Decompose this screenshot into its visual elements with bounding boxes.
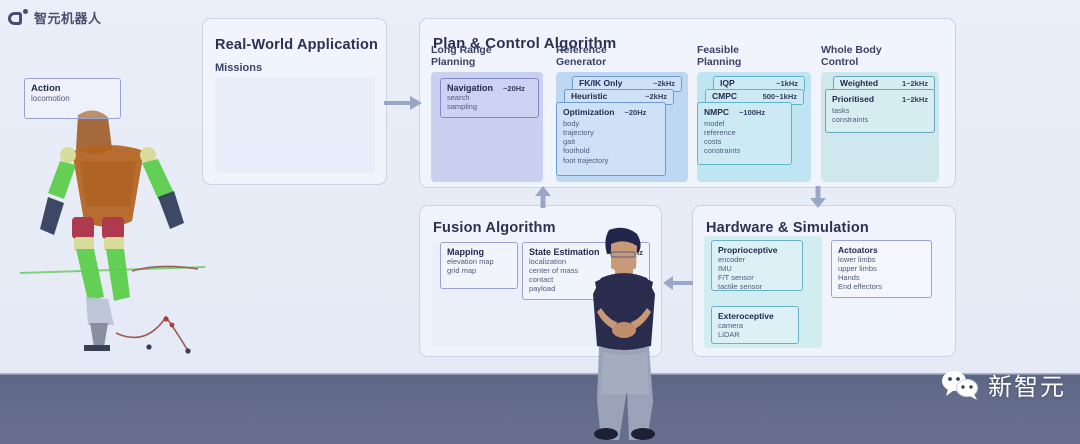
- humanoid-robot-visualization: [20, 85, 210, 355]
- card-optimization-name: Optimization: [563, 107, 614, 117]
- stage-floor: [0, 374, 1080, 444]
- card-prioritised-item-0: tasks: [832, 106, 928, 115]
- card-prioritised-item-1: constraints: [832, 115, 928, 124]
- missions-group: [215, 77, 375, 173]
- card-mapping-item-1: grid map: [447, 266, 511, 275]
- card-exteroceptive-name: Exteroceptive: [718, 311, 774, 321]
- card-fk-ik-hz: ~2kHz: [653, 79, 675, 88]
- stage-floor-edge: [0, 373, 1080, 375]
- card-optimization-hz: ~20Hz: [624, 108, 646, 117]
- card-actuators-name: Actoators: [838, 245, 878, 255]
- card-exteroceptive-item-1: LiDAR: [718, 330, 792, 339]
- card-nmpc-item-0: model: [704, 119, 785, 128]
- card-optimization[interactable]: Optimization ~20Hz body trajectory gait …: [556, 102, 666, 176]
- presentation-stage: 智元机器人 Real-World Applicati: [0, 0, 1080, 444]
- card-cmpc-name: CMPC: [712, 91, 737, 101]
- card-cmpc-hz: 500~1kHz: [763, 92, 797, 101]
- card-optimization-item-2: gait: [563, 137, 659, 146]
- card-action-name: Action: [31, 83, 61, 94]
- card-optimization-item-4: foot trajectory: [563, 156, 659, 165]
- card-prioritised[interactable]: Prioritised 1~2kHz tasks constraints: [825, 89, 935, 133]
- panel-title-hardware: Hardware & Simulation: [706, 220, 869, 236]
- card-actuators-item-0: lower limbs: [838, 255, 925, 264]
- card-iqp-hz: ~1kHz: [776, 79, 798, 88]
- wbc-title-line2: Control: [821, 57, 882, 69]
- subtitle-missions: Missions: [215, 62, 262, 74]
- card-exteroceptive-item-0: camera: [718, 321, 792, 330]
- card-mapping-name: Mapping: [447, 247, 484, 257]
- card-exteroceptive[interactable]: Exteroceptive camera LiDAR: [711, 306, 799, 344]
- card-action[interactable]: Action locomotion: [24, 78, 121, 119]
- card-fk-ik-name: FK/IK Only: [579, 78, 622, 88]
- card-prioritised-name: Prioritised: [832, 94, 874, 104]
- lrp-title-line1: Long Range: [431, 45, 492, 57]
- column-title-whole-body-control: Whole Body Control: [821, 45, 882, 69]
- card-navigation-name: Navigation: [447, 83, 493, 93]
- card-proprioceptive-item-0: encoder: [718, 255, 796, 264]
- card-nmpc-name: NMPC: [704, 107, 729, 117]
- arrow-realworld-to-plan: [384, 94, 424, 112]
- card-proprioceptive-name: Proprioceptive: [718, 245, 778, 255]
- card-mapping-item-0: elevation map: [447, 257, 511, 266]
- card-optimization-item-3: foothold: [563, 146, 659, 155]
- card-actuators-item-2: Hands: [838, 273, 925, 282]
- card-actuators-item-3: End effectors: [838, 282, 925, 291]
- card-proprioceptive-item-2: F/T sensor: [718, 273, 796, 282]
- card-optimization-item-1: trajectory: [563, 128, 659, 137]
- card-nmpc-item-1: reference: [704, 128, 785, 137]
- ref-title-line2: Generator: [556, 57, 607, 69]
- ref-title-line1: Reference: [556, 45, 607, 57]
- column-title-feasible-planning: Feasible Planning: [697, 45, 741, 69]
- card-actuators[interactable]: Actoators lower limbs upper limbs Hands …: [831, 240, 932, 298]
- card-nmpc-hz: ~100Hz: [739, 108, 765, 117]
- brand-logo: 智元机器人: [8, 8, 102, 27]
- agibot-logo-icon: [8, 9, 28, 27]
- lrp-title-line2: Planning: [431, 57, 492, 69]
- card-mapping[interactable]: Mapping elevation map grid map: [440, 242, 518, 289]
- card-nmpc[interactable]: NMPC ~100Hz model reference costs constr…: [697, 102, 792, 165]
- card-proprioceptive-item-3: tactile sensor: [718, 282, 796, 291]
- channel-watermark: 新智元: [940, 367, 1066, 402]
- arrow-plan-to-hardware: [809, 186, 827, 208]
- panel-title-real-world: Real-World Application: [215, 37, 378, 53]
- panel-real-world-application[interactable]: Real-World Application Missions: [202, 18, 387, 185]
- panel-title-fusion: Fusion Algorithm: [433, 220, 556, 236]
- brand-logo-text: 智元机器人: [34, 8, 102, 27]
- card-heuristic-name: Heuristic: [571, 91, 607, 101]
- card-action-item: locomotion: [31, 94, 114, 104]
- card-weighted-hz: 1~2kHz: [902, 79, 928, 88]
- card-proprioceptive[interactable]: Proprioceptive encoder IMU F/T sensor ta…: [711, 240, 803, 291]
- wechat-icon: [940, 369, 980, 401]
- watermark-text: 新智元: [988, 367, 1066, 402]
- card-weighted-name: Weighted: [840, 78, 878, 88]
- card-navigation-hz: ~20Hz: [503, 84, 525, 93]
- card-heuristic-hz: ~2kHz: [645, 92, 667, 101]
- card-proprioceptive-item-1: IMU: [718, 264, 796, 273]
- card-nmpc-item-2: costs: [704, 137, 785, 146]
- card-iqp-name: IQP: [720, 78, 735, 88]
- arrow-fusion-to-plan: [534, 186, 552, 208]
- column-title-long-range-planning: Long Range Planning: [431, 45, 492, 69]
- wbc-title-line1: Whole Body: [821, 45, 882, 57]
- card-optimization-item-0: body: [563, 119, 659, 128]
- card-prioritised-hz: 1~2kHz: [902, 95, 928, 104]
- card-navigation-item-1: sampling: [447, 102, 532, 111]
- card-nmpc-item-3: constraints: [704, 146, 785, 155]
- card-actuators-item-1: upper limbs: [838, 264, 925, 273]
- card-navigation[interactable]: Navigation ~20Hz search sampling: [440, 78, 539, 118]
- fp-title-line1: Feasible: [697, 45, 741, 57]
- fp-title-line2: Planning: [697, 57, 741, 69]
- card-navigation-item-0: search: [447, 93, 532, 102]
- column-title-reference-generator: Reference Generator: [556, 45, 607, 69]
- presenter-person: [575, 226, 673, 440]
